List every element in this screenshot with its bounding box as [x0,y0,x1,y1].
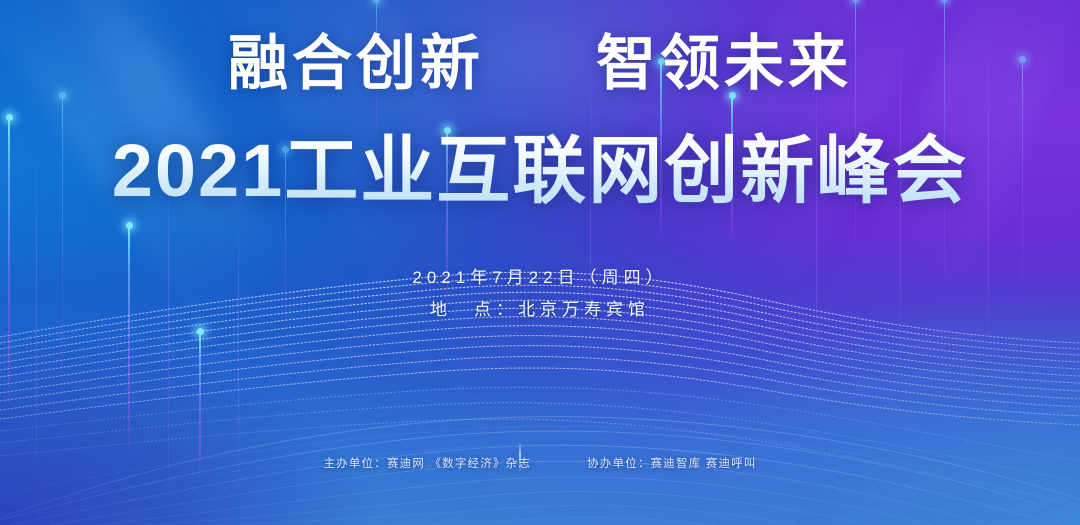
headline-left: 融合创新 [228,34,484,94]
main-title: 2021工业互联网创新峰会 [0,132,1080,210]
event-location: 地 点：北京万寿宾馆 [0,294,1080,326]
footer: 主办单位：赛迪网 《数字经济》杂志 协办单位：赛迪智库 赛迪呼叫 [0,455,1080,471]
event-poster: 融合创新 智领未来 2021工业互联网创新峰会 2021年7月22日（周四） 地… [0,0,1080,525]
headline: 融合创新 智领未来 [0,34,1080,94]
headline-right: 智领未来 [596,34,852,94]
footer-co-organizer: 协办单位：赛迪智库 赛迪呼叫 [587,455,757,471]
footer-organizer: 主办单位：赛迪网 《数字经济》杂志 [323,455,531,471]
event-date: 2021年7月22日（周四） [0,262,1080,294]
poster-content: 融合创新 智领未来 2021工业互联网创新峰会 2021年7月22日（周四） 地… [0,0,1080,525]
event-info: 2021年7月22日（周四） 地 点：北京万寿宾馆 [0,262,1080,327]
